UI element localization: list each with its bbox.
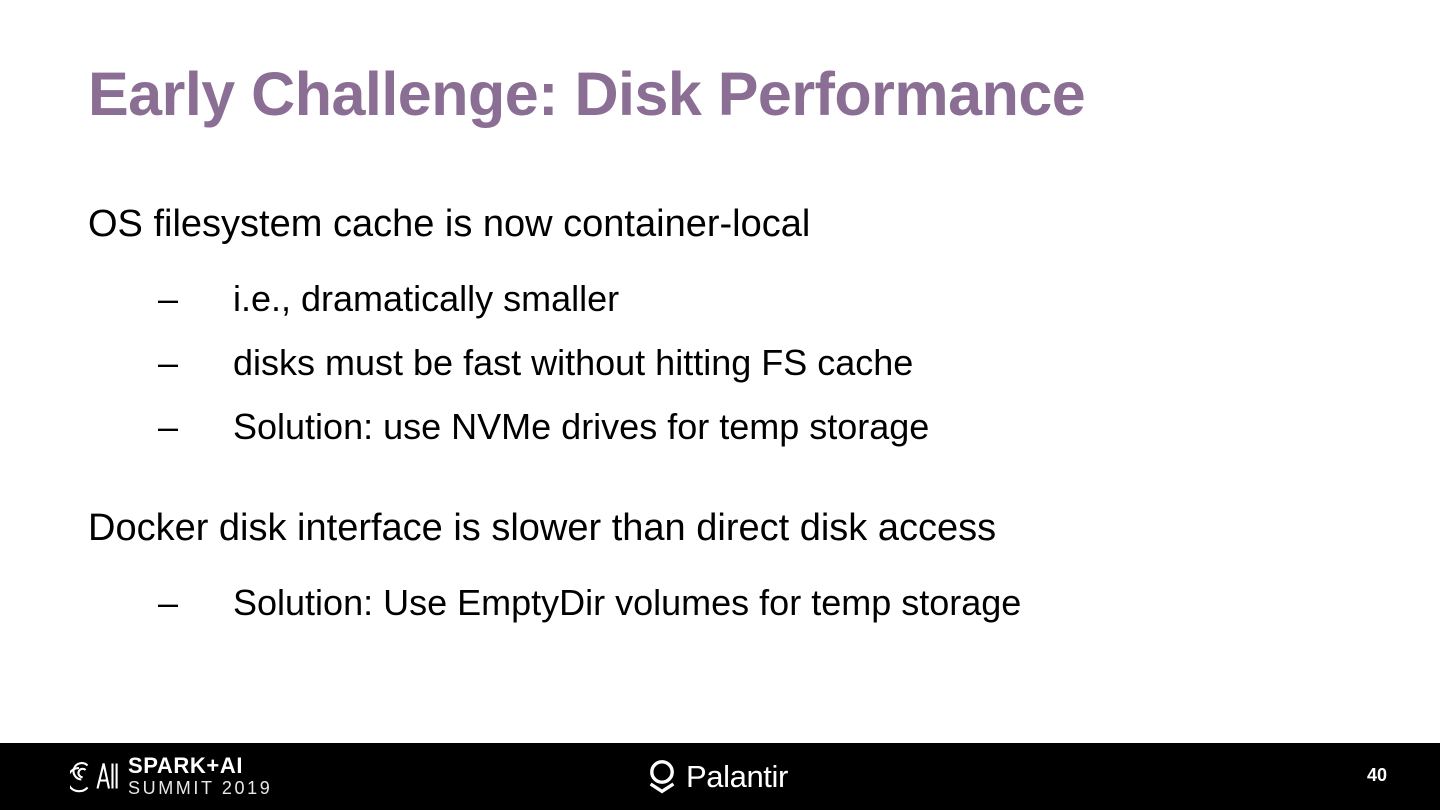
spark-summit-spiral-icon [70, 757, 120, 795]
content-block: OS filesystem cache is now container-loc… [88, 205, 1348, 445]
slide-body: OS filesystem cache is now container-loc… [88, 205, 1348, 621]
spark-summit-line2: SUMMIT 2019 [128, 779, 272, 797]
dash-bullet-icon: – [158, 409, 190, 445]
palantir-logo: Palantir [646, 758, 788, 794]
spark-summit-wordmark: SPARK+AI SUMMIT 2019 [128, 755, 272, 797]
dash-bullet-icon: – [158, 585, 190, 621]
bullet-level1: Docker disk interface is slower than dir… [88, 509, 1348, 557]
bullet-level2-label: Solution: Use EmptyDir volumes for temp … [233, 582, 1021, 623]
block-spacer [88, 445, 1348, 509]
bullet-level2: – i.e., dramatically smaller [88, 253, 1348, 317]
bullet-level2: – Solution: Use EmptyDir volumes for tem… [88, 557, 1348, 621]
bullet-level2: – disks must be fast without hitting FS … [88, 317, 1348, 381]
spark-ai-summit-logo: SPARK+AI SUMMIT 2019 [70, 755, 272, 797]
bullet-level2-label: Solution: use NVMe drives for temp stora… [233, 406, 929, 447]
content-block: Docker disk interface is slower than dir… [88, 509, 1348, 621]
page-title: Early Challenge: Disk Performance [88, 62, 1085, 126]
slide: Early Challenge: Disk Performance OS fil… [0, 0, 1440, 810]
bullet-level2: – Solution: use NVMe drives for temp sto… [88, 381, 1348, 445]
bullet-level2-label: i.e., dramatically smaller [233, 278, 619, 319]
palantir-ring-chevron-icon [646, 758, 678, 794]
dash-bullet-icon: – [158, 281, 190, 317]
spark-summit-line1: SPARK+AI [128, 755, 272, 777]
palantir-wordmark: Palantir [686, 761, 788, 792]
bullet-level1: OS filesystem cache is now container-loc… [88, 205, 1348, 253]
bullet-level2-label: disks must be fast without hitting FS ca… [233, 342, 913, 383]
slide-number: 40 [1367, 766, 1387, 784]
dash-bullet-icon: – [158, 345, 190, 381]
